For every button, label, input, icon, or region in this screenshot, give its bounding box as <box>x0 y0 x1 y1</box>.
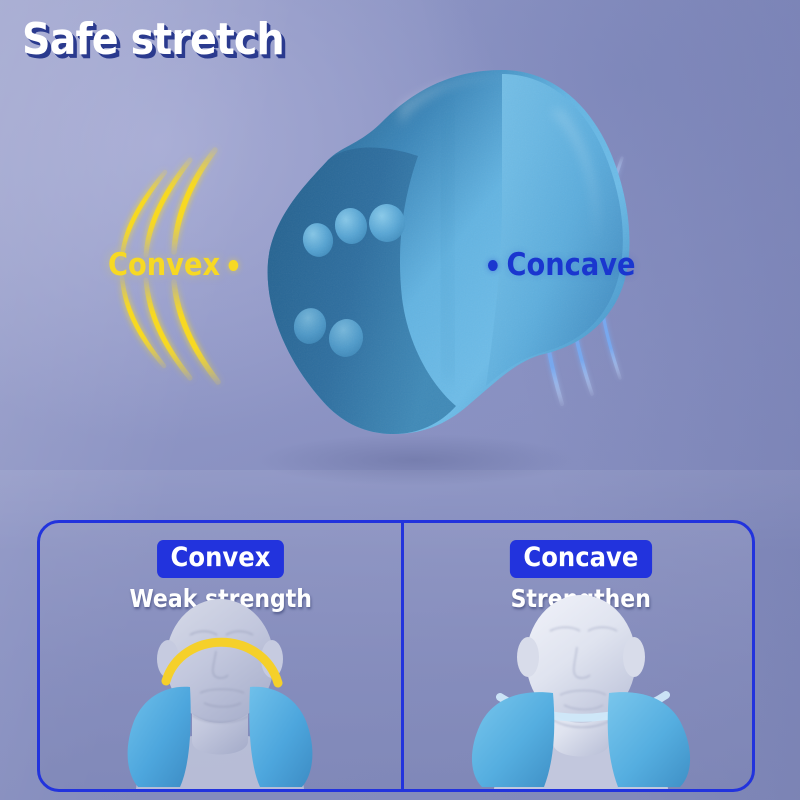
panel-badge-convex: Convex <box>157 540 284 578</box>
callout-concave-dot-icon <box>488 260 498 271</box>
callout-label-convex: Convex <box>108 247 239 283</box>
product-shadow <box>255 434 575 486</box>
figure-concave <box>404 589 755 789</box>
comparison-panel-convex: Convex Weak strength <box>40 523 401 789</box>
figure-convex <box>40 589 401 789</box>
product-marketing-image: Safe stretch Convex Concave Convex Weak … <box>0 0 800 800</box>
comparison-panel-concave: Concave Strengthen <box>404 523 755 789</box>
callout-concave-text: Concave <box>506 247 635 283</box>
callout-label-concave: Concave <box>488 247 636 283</box>
callout-convex-dot-icon <box>229 260 239 271</box>
panel-badge-concave: Concave <box>510 540 652 578</box>
page-title: Safe stretch <box>22 14 284 65</box>
callout-convex-text: Convex <box>108 247 220 283</box>
comparison-panel-group: Convex Weak strength <box>37 520 755 792</box>
